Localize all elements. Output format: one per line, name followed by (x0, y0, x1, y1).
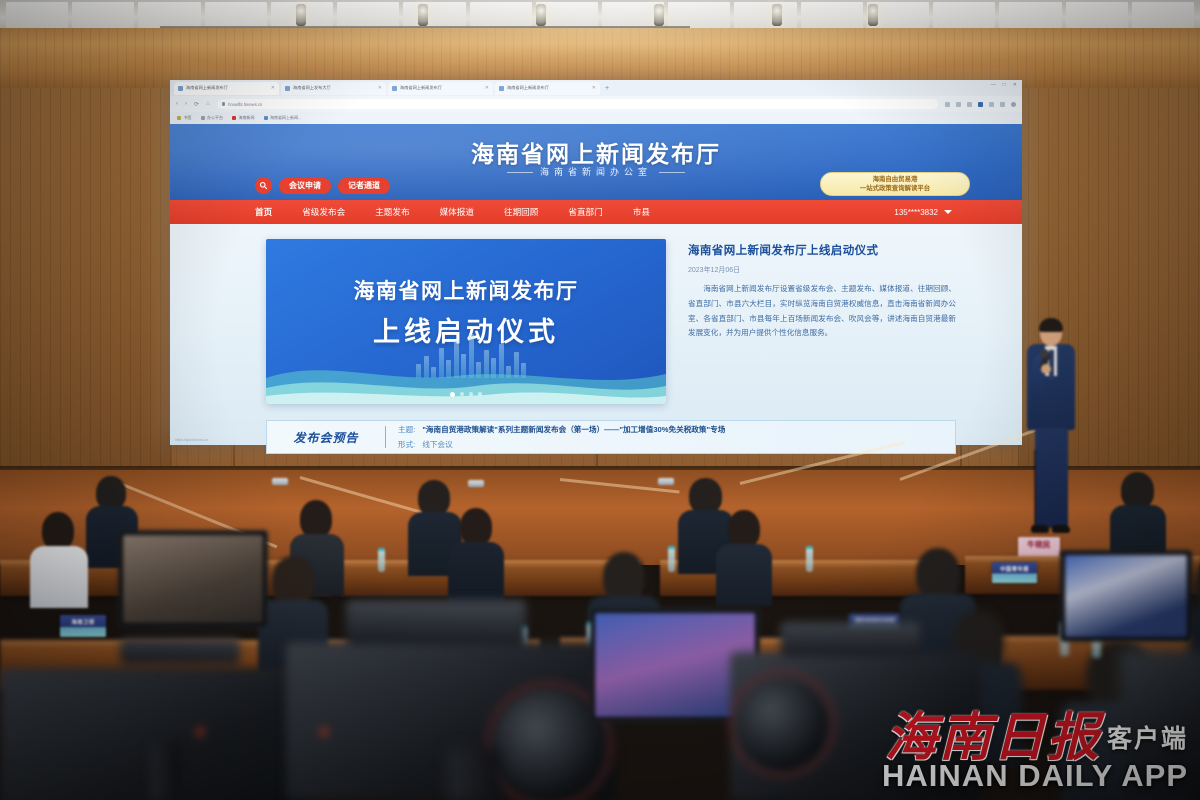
minimize-button[interactable]: — (991, 82, 996, 88)
extension-icon[interactable] (967, 102, 972, 107)
ceiling-light (536, 4, 546, 26)
press-placard-china-youth-daily: 中国青年报 (992, 562, 1037, 583)
policy-platform-badge[interactable]: 海南自由贸易港 一站式政策查询解读平台 (820, 172, 970, 196)
home-icon[interactable]: ⌂ (206, 101, 210, 107)
close-icon[interactable]: ✕ (592, 85, 596, 91)
bookmark-label: 办公平台 (207, 115, 223, 121)
audience-member (716, 510, 772, 600)
nav-item-theme-release[interactable]: 主题发布 (375, 206, 409, 218)
carousel-dot[interactable] (478, 392, 482, 396)
chevron-down-icon (944, 210, 952, 214)
nav-item-departments[interactable]: 省直部门 (568, 206, 602, 218)
carousel-dot[interactable] (460, 392, 464, 396)
ceiling-light (654, 4, 664, 26)
article-title[interactable]: 海南省网上新闻发布厅上线启动仪式 (688, 242, 956, 258)
desk-microphone (468, 480, 484, 487)
forward-icon[interactable]: › (185, 101, 187, 107)
bookmark-item[interactable]: 海南省网上新闻... (264, 115, 302, 121)
banner-line-1: 海南省网上新闻发布厅 (266, 275, 666, 305)
water-bottle (806, 546, 813, 572)
camera-tripod (150, 742, 180, 800)
notice-key: 主题: (398, 424, 415, 435)
close-icon[interactable]: ✕ (271, 85, 275, 91)
browser-extensions (945, 102, 1016, 107)
notice-key: 形式: (398, 439, 415, 450)
bookmark-icon (177, 116, 181, 120)
speaker-shoe (1031, 525, 1049, 533)
viewfinder-screen (1065, 555, 1187, 637)
browser-chrome: 海南省网上新闻发布厅 ✕ 海南省网上发布大厅 ✕ 海南省网上新闻发布厅 ✕ 海南… (170, 80, 1022, 124)
bookmark-label: 海南省网上新闻... (270, 115, 301, 121)
notice-value: 线下会议 (422, 439, 452, 450)
notice-row-topic: 主题: "海南自贸港政策解读"系列主题新闻发布会（第一场）——"加工增值30%免… (398, 424, 725, 435)
close-window-button[interactable]: ✕ (1013, 82, 1017, 88)
press-conference-notice: 发布会预告 主题: "海南自贸港政策解读"系列主题新闻发布会（第一场）——"加工… (266, 420, 956, 454)
site-title: 海南省网上新闻发布厅 (170, 135, 1022, 169)
favicon-icon (178, 86, 183, 91)
extension-icon[interactable] (956, 102, 961, 107)
wall-left-panel (0, 88, 172, 488)
user-account-menu[interactable]: 135****3832 (894, 208, 952, 217)
browser-tab[interactable]: 海南省网上新闻发布厅 ✕ (388, 82, 493, 95)
bookmark-icon (232, 116, 236, 120)
camera-tripod (448, 748, 500, 800)
browser-tab[interactable]: 海南省网上发布大厅 ✕ (281, 82, 386, 95)
audience-member (448, 508, 504, 598)
bookmark-item[interactable]: 海南新闻 (232, 115, 255, 121)
extension-icon[interactable] (945, 102, 950, 107)
site-main-content: 海南省网上新闻发布厅 上线启动仪式 (170, 224, 1022, 445)
reporter-channel-button[interactable]: 记者通道 (338, 178, 390, 194)
carousel-dot-active[interactable] (450, 392, 455, 397)
trouser-seam (1034, 450, 1036, 528)
notice-rows: 主题: "海南自贸港政策解读"系列主题新闻发布会（第一场）——"加工增值30%免… (386, 424, 725, 450)
bookmark-item[interactable]: 办公平台 (201, 115, 224, 121)
meeting-application-button[interactable]: 会议申请 (279, 178, 331, 194)
banner-carousel[interactable]: 海南省网上新闻发布厅 上线启动仪式 (266, 239, 666, 404)
profile-avatar-icon[interactable] (1011, 102, 1016, 107)
bookmark-icon (264, 116, 268, 120)
article-date: 2023年12月06日 (688, 265, 956, 275)
projection-screen: 海南省网上新闻发布厅 ✕ 海南省网上发布大厅 ✕ 海南省网上新闻发布厅 ✕ 海南… (170, 80, 1022, 445)
back-icon[interactable]: ‹ (176, 101, 178, 107)
ceiling-light (868, 4, 878, 26)
ceiling-light (418, 4, 428, 26)
browser-tab[interactable]: 海南省网上新闻发布厅 ✕ (495, 82, 600, 95)
speaker-trousers (1035, 428, 1068, 528)
tab-title: 海南省网上新闻发布厅 (186, 85, 228, 91)
water-bottle (668, 546, 675, 572)
bookmark-star-icon[interactable] (989, 102, 994, 107)
watermark-chinese: 海南日报 客户端 (882, 713, 1188, 762)
notice-row-format: 形式: 线下会议 (398, 439, 725, 450)
tab-title: 海南省网上新闻发布厅 (507, 85, 549, 91)
speaker-hand (1041, 364, 1051, 374)
download-icon[interactable] (1000, 102, 1005, 107)
bookmark-label: 书签 (184, 115, 192, 121)
new-tab-button[interactable]: + (605, 85, 609, 92)
nav-item-cities[interactable]: 市县 (633, 206, 650, 218)
favicon-icon (285, 86, 290, 91)
favicon-icon (392, 86, 397, 91)
policy-badge-line2: 一站式政策查询解读平台 (860, 184, 930, 193)
user-phone: 135****3832 (894, 208, 938, 217)
hero-actions: 会议申请 记者通道 (255, 177, 390, 194)
lock-icon (222, 102, 226, 106)
browser-tab[interactable]: 海南省网上新闻发布厅 ✕ (174, 82, 279, 95)
bookmark-icon (201, 116, 205, 120)
article-body: 海南省网上新闻发布厅设置省级发布会、主题发布、媒体报道、往期回顾、省直部门、市县… (688, 282, 956, 341)
ceiling-light (772, 4, 782, 26)
site-navigation: 首页 省级发布会 主题发布 媒体报道 往期回顾 省直部门 市县 135****3… (170, 200, 1022, 224)
nav-item-provincial-conference[interactable]: 省级发布会 (302, 206, 345, 218)
notice-label: 发布会预告 (267, 429, 385, 446)
article-block: 海南省网上新闻发布厅上线启动仪式 2023年12月06日 海南省网上新闻发布厅设… (688, 242, 956, 341)
favicon-icon (499, 86, 504, 91)
maximize-button[interactable]: □ (1003, 82, 1006, 88)
carousel-dot[interactable] (469, 392, 473, 396)
close-icon[interactable]: ✕ (378, 85, 382, 91)
close-icon[interactable]: ✕ (485, 85, 489, 91)
bookmark-label: 海南新闻 (239, 115, 255, 121)
press-conference-scene: 海南省网上新闻发布厅 ✕ 海南省网上发布大厅 ✕ 海南省网上新闻发布厅 ✕ 海南… (0, 0, 1200, 800)
water-bottle (378, 548, 385, 572)
carousel-dots[interactable] (450, 392, 482, 397)
microphone-head (1040, 349, 1049, 358)
reload-icon[interactable]: ⟳ (194, 101, 199, 108)
camera-viewfinder-right (1060, 550, 1192, 642)
bookmarks-bar: 书签 办公平台 海南新闻 海南省网上新闻... (170, 112, 1022, 124)
nav-item-past-review[interactable]: 往期回顾 (504, 206, 538, 218)
watermark-english-text: HAINAN DAILY APP (882, 758, 1188, 794)
address-bar-value: hnxwfbt.hinews.cn (228, 102, 262, 107)
tab-title: 海南省网上发布大厅 (293, 85, 331, 91)
notice-value: "海南自贸港政策解读"系列主题新闻发布会（第一场）——"加工增值30%免关税政策… (422, 424, 725, 435)
speaker-person (1018, 320, 1084, 545)
address-bar[interactable]: hnxwfbt.hinews.cn (217, 99, 938, 109)
ceiling-light (296, 4, 306, 26)
site-hero-header: 海南省网上新闻发布厅 海南省新闻办公室 会议申请 记者通道 海南自由贸易港 一站… (170, 124, 1022, 200)
window-controls: — □ ✕ (991, 82, 1017, 88)
site-footer-url: https://gov.hinews.cn (175, 438, 208, 442)
policy-badge-line1: 海南自由贸易港 (873, 175, 918, 184)
extension-icon-active[interactable] (978, 102, 983, 107)
nav-item-home[interactable]: 首页 (255, 206, 272, 218)
audience-member (30, 512, 88, 602)
nav-item-media-coverage[interactable]: 媒体报道 (440, 206, 474, 218)
browser-tabstrip: 海南省网上新闻发布厅 ✕ 海南省网上发布大厅 ✕ 海南省网上新闻发布厅 ✕ 海南… (170, 80, 1022, 96)
watermark: 海南日报 客户端 HAINAN DAILY APP (882, 713, 1188, 794)
desk-microphone (272, 478, 288, 485)
bookmark-item[interactable]: 书签 (177, 115, 192, 121)
speaker-hair (1039, 318, 1063, 332)
tab-title: 海南省网上新闻发布厅 (400, 85, 442, 91)
desk-microphone (658, 478, 674, 485)
watermark-main-text: 海南日报 (885, 713, 1101, 762)
watermark-side-text: 客户端 (1107, 719, 1188, 762)
speaker-shoe (1052, 525, 1070, 533)
browser-toolbar: ‹ › ⟳ ⌂ hnxwfbt.hinews.cn (170, 96, 1022, 112)
search-icon[interactable] (255, 177, 272, 194)
nav-item-list: 首页 省级发布会 主题发布 媒体报道 往期回顾 省直部门 市县 (255, 206, 650, 218)
